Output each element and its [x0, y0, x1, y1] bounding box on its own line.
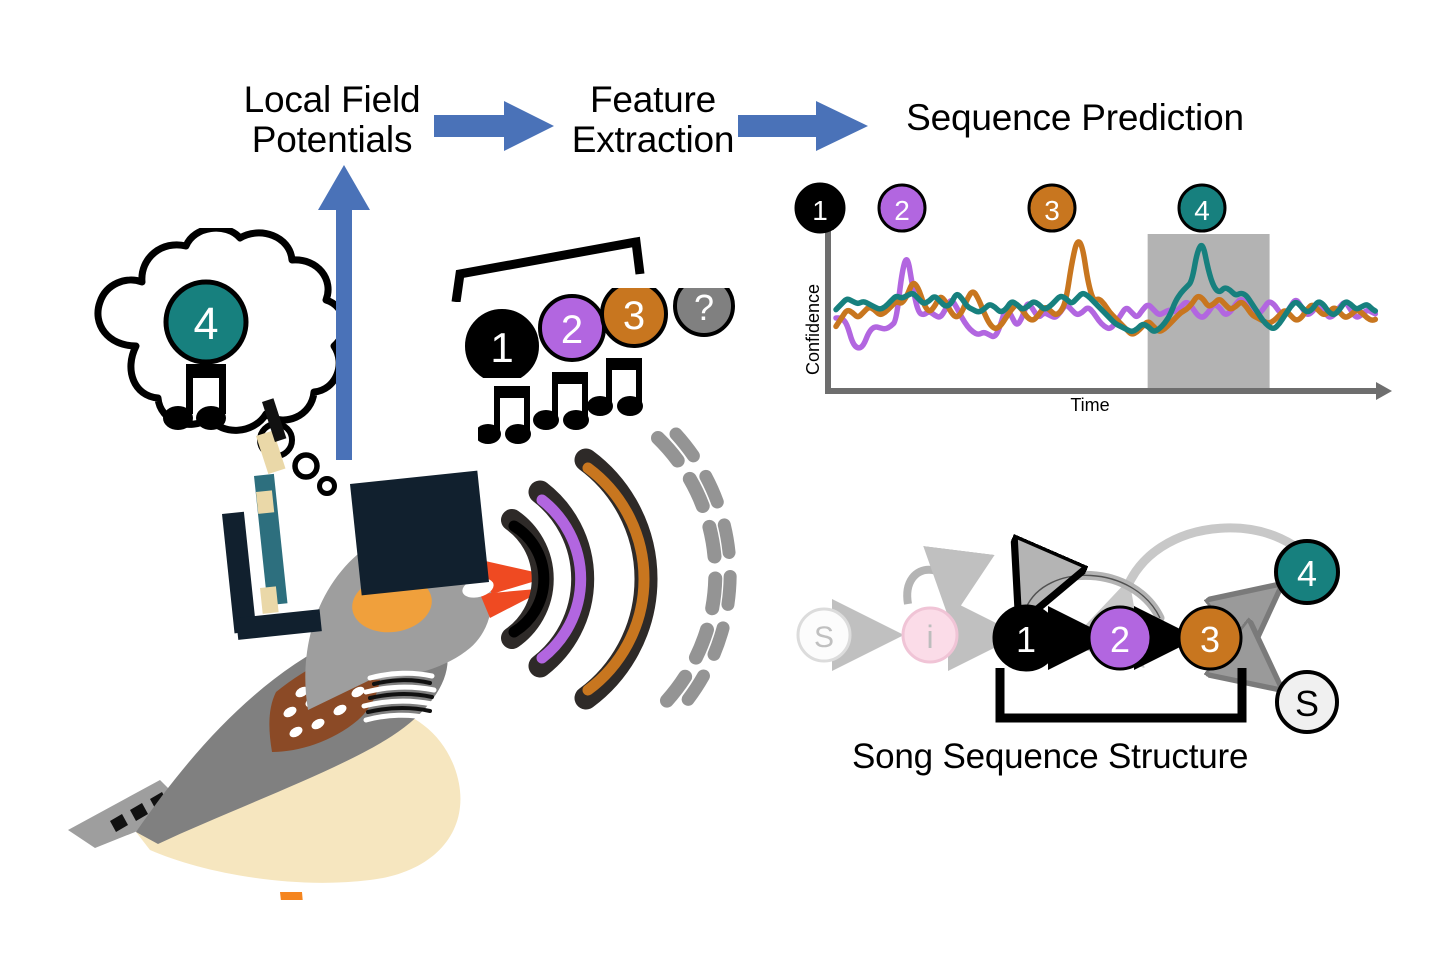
song-sequence-structure-title: Song Sequence Structure — [852, 738, 1302, 776]
node-3-label: 3 — [1200, 619, 1220, 660]
syllable-circle-unknown: ? — [675, 288, 733, 335]
node-intro: i — [903, 608, 957, 662]
syllable-unknown-label: ? — [694, 288, 714, 328]
label-feature-extraction: Feature Extraction — [565, 80, 741, 160]
node-2-label: 2 — [1110, 619, 1130, 660]
node-1-label: 1 — [1016, 619, 1036, 660]
node-4-label: 4 — [1297, 553, 1317, 594]
node-4: 4 — [1276, 541, 1338, 603]
syllable-3-label: 3 — [623, 294, 645, 338]
node-3: 3 — [1179, 607, 1241, 669]
syllable-circle-2: 2 — [540, 296, 604, 360]
chart-marker-2-label: 2 — [894, 195, 910, 226]
lfp-line-1: Local Field — [232, 80, 432, 120]
chart-marker-4: 4 — [1179, 185, 1225, 231]
chart-marker-legend: 1 2 3 4 — [790, 178, 1250, 238]
bird-feet — [236, 892, 434, 900]
node-intro-label: i — [926, 619, 933, 655]
chart-marker-2: 2 — [879, 185, 925, 231]
chart-marker-1-label: 1 — [812, 195, 828, 226]
chart-x-axis — [825, 388, 1381, 394]
syllable-2-label: 2 — [561, 308, 583, 352]
chart-marker-4-label: 4 — [1194, 195, 1210, 226]
chart-marker-3: 3 — [1029, 185, 1075, 231]
node-start: S — [798, 609, 850, 661]
flow-arrow-2-icon — [736, 95, 876, 157]
confidence-trace-3 — [836, 242, 1375, 334]
flow-arrow-1-icon — [432, 95, 562, 157]
headstage-connector — [256, 398, 286, 474]
thought-syllable-4: 4 — [160, 276, 252, 368]
feature-line-1: Feature — [565, 80, 741, 120]
edge-intro-self-loop — [907, 570, 952, 606]
node-start-label: S — [814, 621, 834, 654]
thought-syllable-label: 4 — [193, 298, 218, 349]
chart-y-axis — [825, 226, 831, 394]
figure-canvas: Local Field Potentials Feature Extractio… — [0, 0, 1440, 960]
chart-marker-3-label: 3 — [1044, 195, 1060, 226]
sound-wave-arcs — [490, 420, 780, 720]
chart-marker-1: 1 — [796, 184, 844, 232]
node-end: S — [1277, 672, 1337, 732]
lfp-line-2: Potentials — [232, 120, 432, 160]
label-local-field-potentials: Local Field Potentials — [232, 80, 432, 160]
feature-line-2: Extraction — [565, 120, 741, 160]
node-end-label: S — [1295, 683, 1319, 724]
motif-repeat-bracket — [1000, 668, 1242, 718]
chart-y-axis-label: Confidence — [783, 245, 807, 375]
confidence-traces — [836, 242, 1375, 348]
node-1: 1 — [994, 606, 1058, 670]
zebra-finch-illustration — [40, 380, 560, 900]
edge-3-to-4 — [1232, 592, 1272, 624]
node-2: 2 — [1089, 607, 1151, 669]
song-sequence-state-diagram: S i 1 2 3 4 S — [790, 520, 1370, 740]
syllable-circle-3: 3 — [602, 288, 666, 346]
label-sequence-prediction: Sequence Prediction — [890, 98, 1260, 138]
